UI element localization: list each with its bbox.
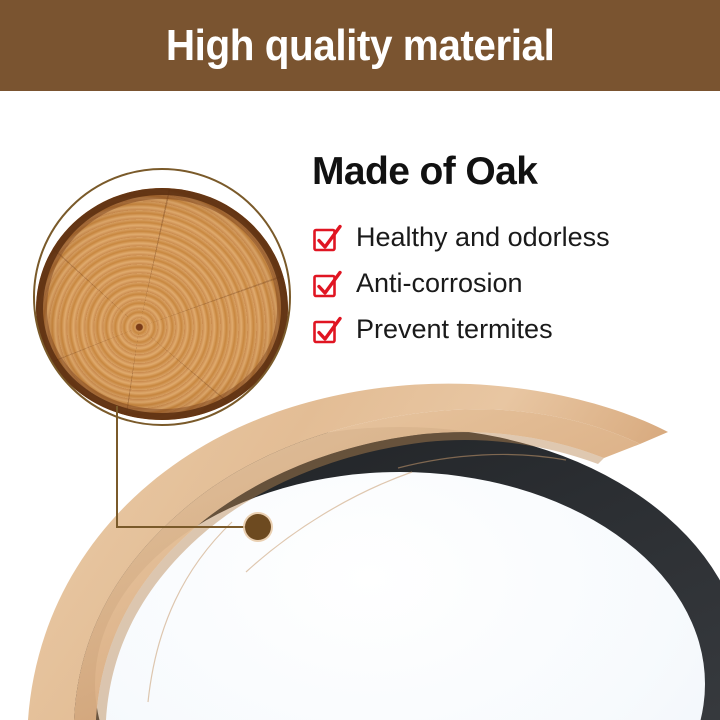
list-item: Prevent termites	[312, 307, 712, 353]
feature-label: Healthy and odorless	[356, 224, 610, 251]
list-item: Anti-corrosion	[312, 261, 712, 307]
checkbox-checked-icon	[312, 270, 342, 300]
feature-label: Prevent termites	[356, 316, 553, 343]
callout-circle-outline	[33, 168, 291, 426]
page-title: High quality material	[166, 24, 554, 68]
feature-label: Anti-corrosion	[356, 270, 523, 297]
callout-target-dot	[245, 514, 271, 540]
checkbox-checked-icon	[312, 224, 342, 254]
checkbox-checked-icon	[312, 316, 342, 346]
feature-headline: Made of Oak	[312, 152, 712, 193]
product-feature-banner-page: High quality material	[0, 0, 720, 720]
wood-slice-callout	[33, 168, 291, 426]
feature-list: Healthy and odorless Anti-corrosion	[312, 215, 712, 353]
callout-leader-line-vertical	[116, 406, 118, 528]
list-item: Healthy and odorless	[312, 215, 712, 261]
feature-info-column: Made of Oak Healthy and odorless	[312, 152, 712, 353]
header-banner: High quality material	[0, 0, 720, 91]
callout-leader-line-horizontal	[116, 526, 252, 528]
